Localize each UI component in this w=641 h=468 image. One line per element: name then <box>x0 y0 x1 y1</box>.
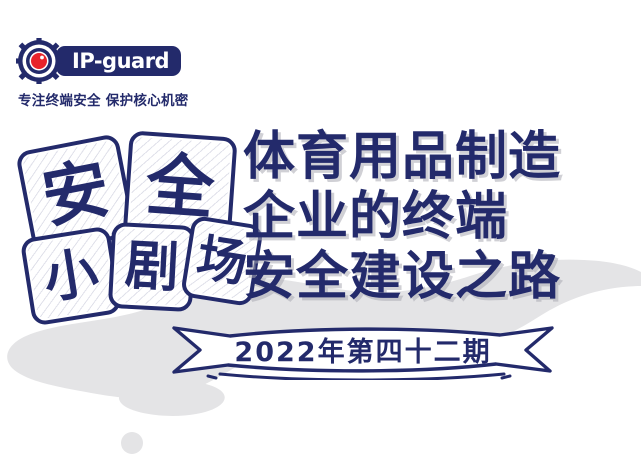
issue-label: 2022年第四十二期 <box>160 318 560 380</box>
gray-blob-small <box>119 381 225 416</box>
logo-row: IP-guard <box>16 38 189 84</box>
gray-dot <box>121 432 143 454</box>
badge-tile: 小 <box>20 226 123 327</box>
wordmark-text: IP-guard <box>72 51 169 72</box>
headline-block: 体育用品制造 企业的终端 安全建设之路 <box>243 127 561 307</box>
badge-tile: 剧 <box>108 222 196 312</box>
headline-line-3: 安全建设之路 <box>243 247 561 307</box>
brand-tagline: 专注终端安全 保护核心机密 <box>18 89 189 109</box>
wordmark-plate: IP-guard <box>56 46 181 76</box>
badge-tile-char: 全 <box>144 152 217 225</box>
badge-tile-char: 剧 <box>124 239 181 296</box>
headline-line-2: 企业的终端 <box>243 187 561 247</box>
aperture-target-icon <box>16 38 62 84</box>
series-badge: 安 全 小 剧 场 <box>10 128 258 328</box>
issue-ribbon: 2022年第四十二期 <box>160 318 560 380</box>
badge-tile-char: 小 <box>40 245 102 307</box>
headline-line-1: 体育用品制造 <box>243 127 561 187</box>
badge-tile-char: 安 <box>37 155 114 232</box>
brand-logo-block: IP-guard 专注终端安全 保护核心机密 <box>16 38 189 109</box>
poster-canvas: IP-guard 专注终端安全 保护核心机密 安 全 小 剧 场 体育用品制造 … <box>0 0 641 468</box>
